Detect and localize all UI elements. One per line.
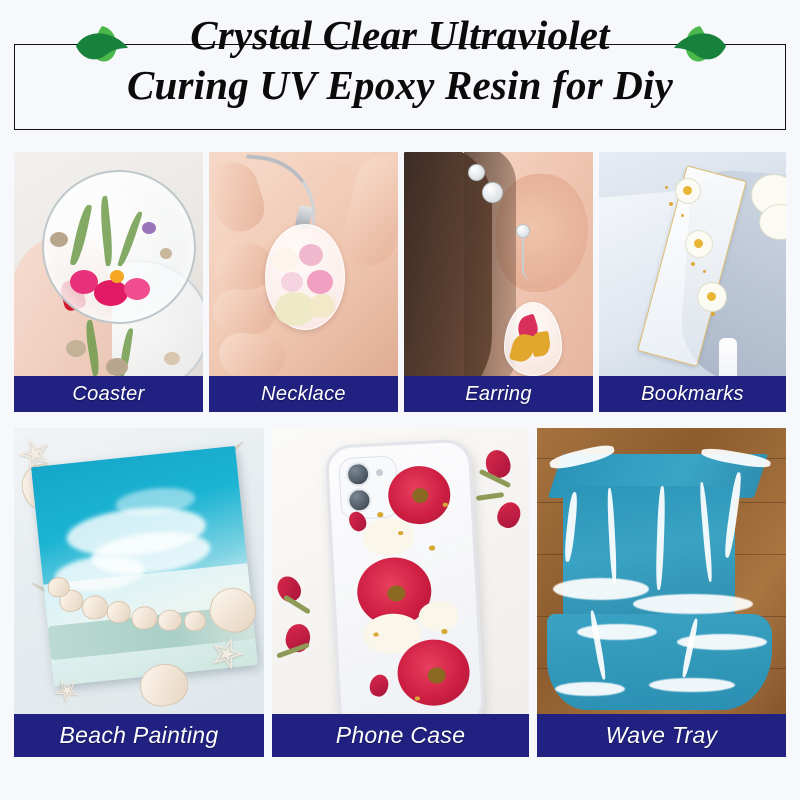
product-photo-bookmarks: [599, 152, 786, 412]
product-label-bookmarks: Bookmarks: [599, 376, 786, 412]
product-card-wave-tray[interactable]: Wave Tray: [537, 428, 786, 757]
product-photo-earring: [404, 152, 593, 412]
product-photo-coaster: [14, 152, 203, 412]
product-card-phone-case[interactable]: Phone Case: [272, 428, 529, 757]
product-photo-wave-tray: [537, 428, 786, 757]
product-card-earring[interactable]: Earring: [404, 152, 593, 412]
product-photo-phone-case: [272, 428, 529, 757]
product-label-coaster: Coaster: [14, 376, 203, 412]
product-card-beach-painting[interactable]: ✭ ✭: [14, 428, 264, 757]
product-card-coaster[interactable]: Coaster: [14, 152, 203, 412]
leaf-icon: [672, 22, 730, 68]
product-label-necklace: Necklace: [209, 376, 398, 412]
product-card-necklace[interactable]: Necklace: [209, 152, 398, 412]
product-infographic: Crystal Clear Ultraviolet Curing UV Epox…: [0, 0, 800, 800]
product-label-beach-painting: Beach Painting: [14, 714, 264, 757]
product-card-bookmarks[interactable]: Bookmarks: [599, 152, 786, 412]
product-label-earring: Earring: [404, 376, 593, 412]
product-label-phone-case: Phone Case: [272, 714, 529, 757]
leaf-icon: [72, 22, 130, 68]
product-photo-beach-painting: ✭ ✭: [14, 428, 264, 757]
phone-mockup: [325, 438, 486, 733]
product-label-wave-tray: Wave Tray: [537, 714, 786, 757]
product-photo-necklace: [209, 152, 398, 412]
